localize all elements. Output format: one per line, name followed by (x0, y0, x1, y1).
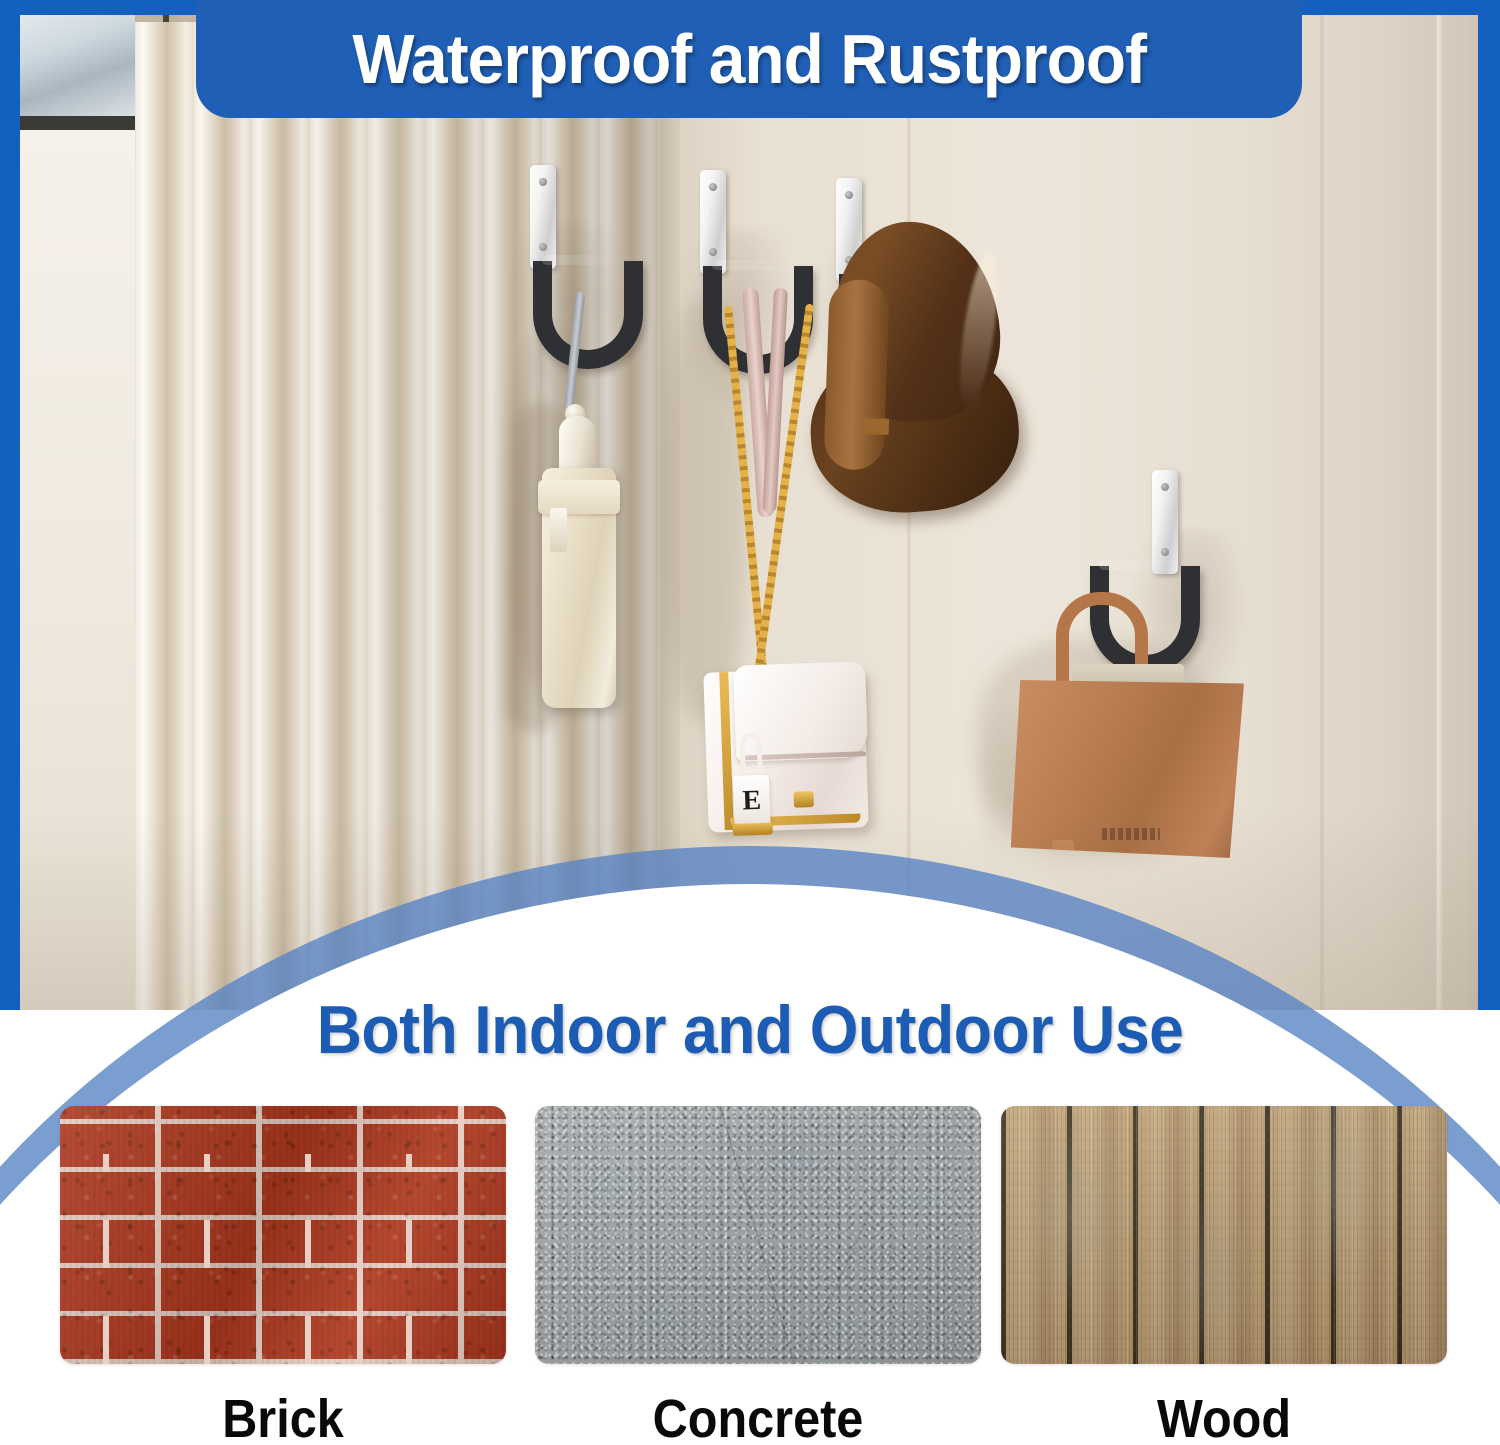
umbrella-item (528, 292, 638, 712)
surface-swatch-row: Brick Concrete Wood (0, 1106, 1500, 1445)
hook-mounting-plate (1152, 470, 1178, 574)
subhead-title: Both Indoor and Outdoor Use (317, 996, 1184, 1064)
surface-item-concrete: Concrete (535, 1106, 981, 1445)
handbag-gold-trim (719, 672, 734, 830)
wood-weathering-overlay (1001, 1106, 1447, 1364)
wood-swatch (1001, 1106, 1447, 1364)
surface-item-wood: Wood (1001, 1106, 1447, 1445)
handbag-item: E (690, 288, 910, 848)
subhead: Both Indoor and Outdoor Use (0, 996, 1500, 1064)
screw-icon (1161, 548, 1169, 556)
umbrella-tag (550, 508, 567, 552)
handbag-clasp (793, 791, 814, 808)
border-left (0, 0, 20, 1010)
screw-icon (539, 243, 547, 251)
screw-icon (539, 178, 547, 186)
handbag-body: E (703, 667, 868, 832)
banner-title: Waterproof and Rustproof (352, 24, 1146, 94)
border-right (1478, 0, 1500, 1010)
surface-label-concrete: Concrete (557, 1392, 958, 1445)
surface-item-brick: Brick (60, 1106, 506, 1445)
hook-mounting-plate (700, 170, 726, 274)
product-feature-image: E Waterproof and Rustproof Both Indoor a… (0, 0, 1500, 1445)
surface-label-brick: Brick (82, 1392, 483, 1445)
brick-swatch (60, 1106, 506, 1364)
screw-icon (709, 248, 717, 256)
concrete-swatch (535, 1106, 981, 1364)
screw-icon (709, 183, 717, 191)
hook-mounting-plate (530, 165, 556, 269)
umbrella-strap (564, 292, 585, 412)
screw-icon (845, 191, 853, 199)
title-banner: Waterproof and Rustproof (196, 0, 1302, 118)
screw-icon (1161, 483, 1169, 491)
surface-label-wood: Wood (1023, 1392, 1424, 1445)
concrete-crack-overlay (535, 1106, 981, 1364)
brick-tone-overlay (60, 1106, 506, 1364)
window (20, 0, 135, 130)
